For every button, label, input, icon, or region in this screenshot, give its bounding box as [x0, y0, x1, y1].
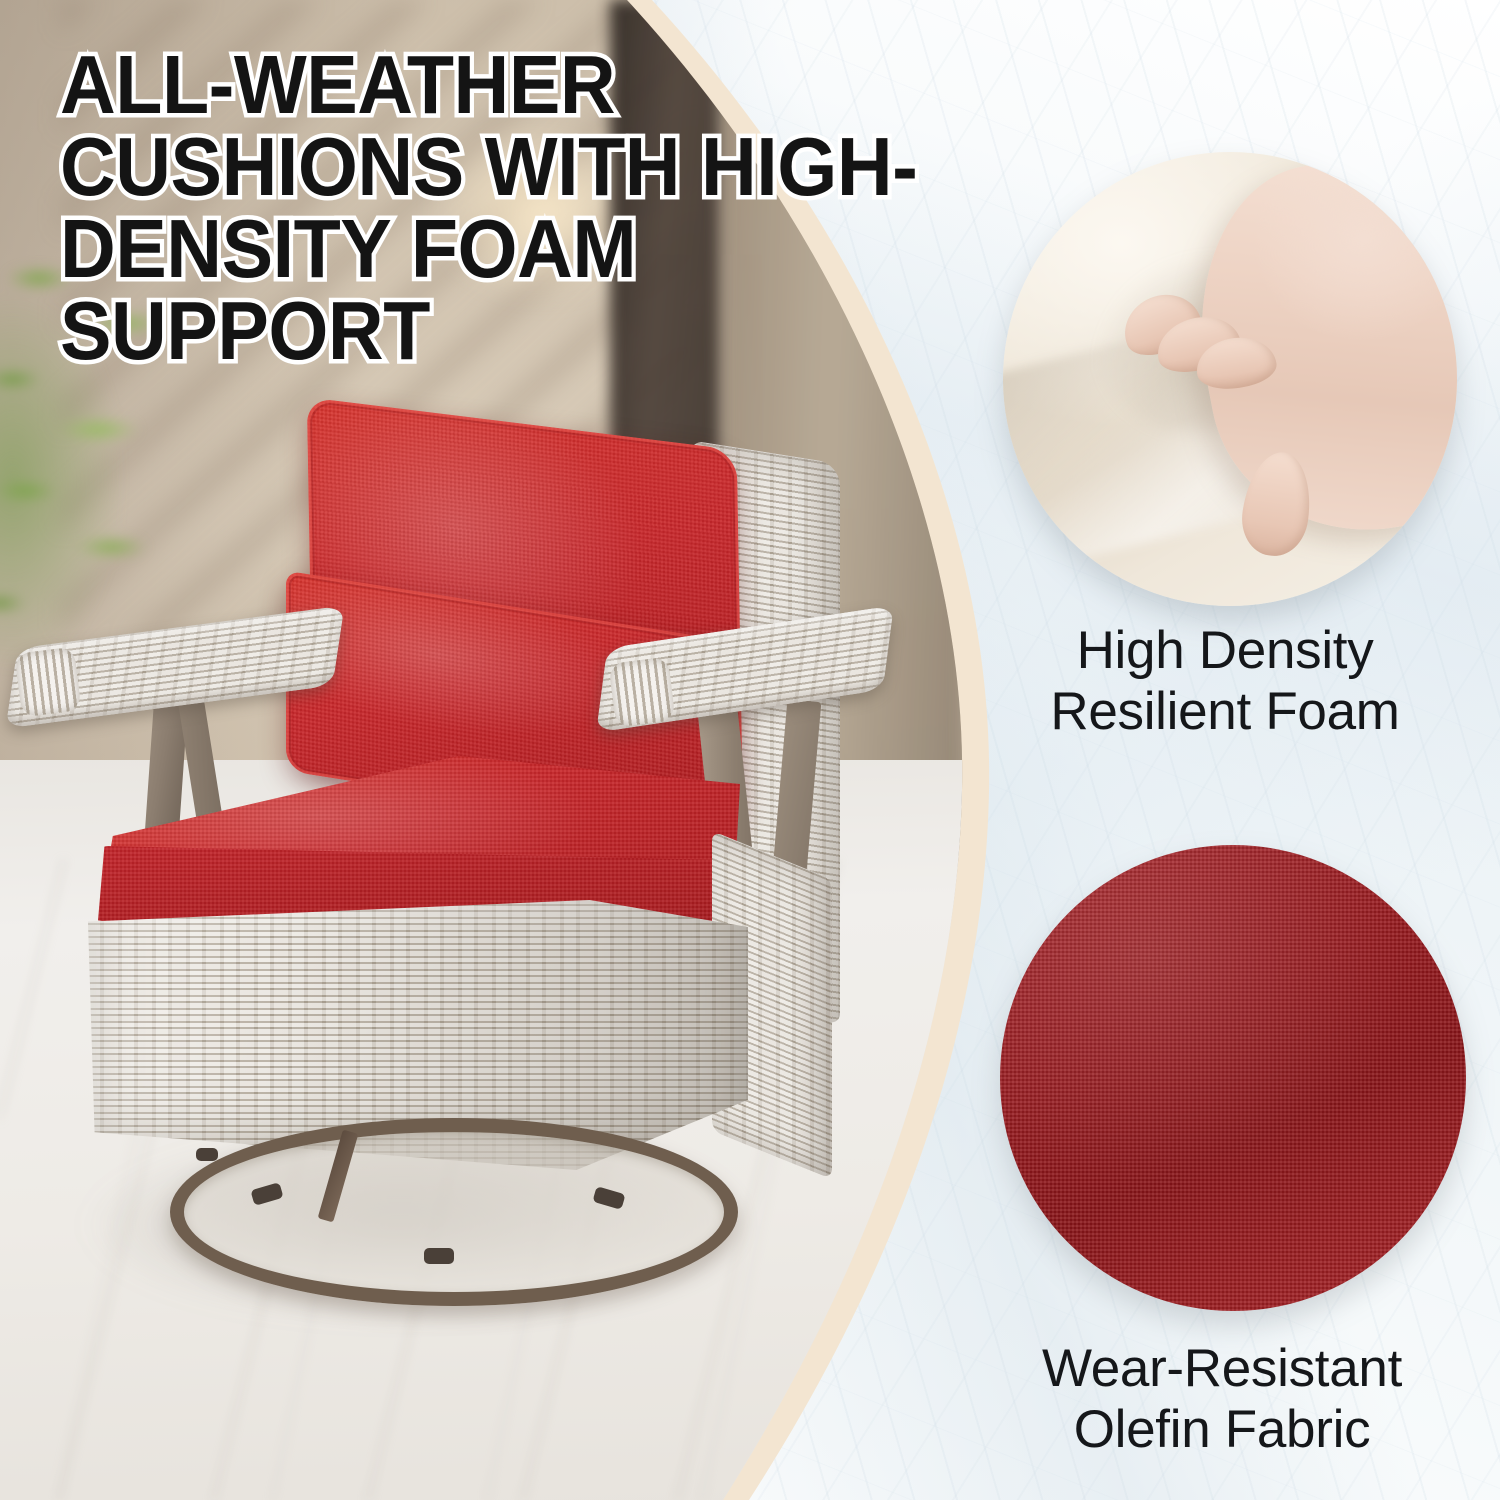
wear-resistant-fabric-image	[1000, 845, 1466, 1311]
product-feature-banner: High Density Resilient Foam Wear-Resista…	[0, 0, 1500, 1500]
left-armrest-cap	[14, 647, 81, 718]
swivel-base-ring	[170, 1118, 738, 1306]
feature-label-fabric: Wear-Resistant Olefin Fabric	[952, 1338, 1492, 1461]
feature-label-foam: High Density Resilient Foam	[955, 620, 1495, 743]
headline: ALL-WEATHER CUSHIONS WITH HIGH-DENSITY F…	[60, 44, 925, 373]
swivel-base-foot	[196, 1148, 218, 1161]
olefin-weave-texture	[1000, 845, 1466, 1311]
swivel-base-foot	[424, 1248, 454, 1264]
right-armrest-cap	[608, 657, 675, 728]
